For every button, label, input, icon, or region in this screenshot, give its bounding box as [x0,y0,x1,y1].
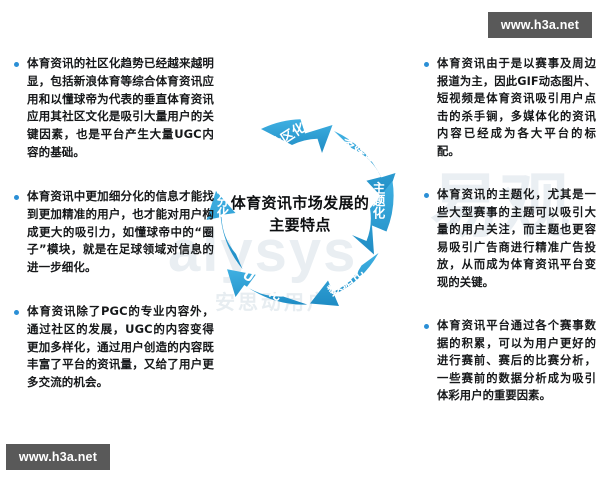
list-item: 体育资讯中更加细分化的信息才能找到更加精准的用户，也才能对用户构成更大的吸引力，… [14,188,214,277]
bullet-dot-icon [424,62,429,67]
bullet-text: 体育资讯由于是以赛事及周边报道为主，因此GIF动态图片、短视频是体育资讯吸引用户… [437,55,596,160]
bullet-dot-icon [14,62,19,67]
list-item: 体育资讯由于是以赛事及周边报道为主，因此GIF动态图片、短视频是体育资讯吸引用户… [424,55,596,160]
bullet-text: 体育资讯的主题化，尤其是一些大型赛事的主题可以吸引大量的用户关注，而主题也更容易… [437,186,596,291]
cycle-diagram: 社区化 多媒体化 主题化 数据化 UGC化 信息细分化 [180,95,420,335]
bullet-dot-icon [14,195,19,200]
watermark-badge-bottom: www.h3a.net [6,444,110,470]
list-item: 体育资讯除了PGC的专业内容外，通过社区的发展，UGC的内容变得更加多样化，通过… [14,303,214,392]
right-bullet-column: 体育资讯由于是以赛事及周边报道为主，因此GIF动态图片、短视频是体育资讯吸引用户… [424,55,596,431]
bullet-dot-icon [424,193,429,198]
bullet-text: 体育资讯中更加细分化的信息才能找到更加精准的用户，也才能对用户构成更大的吸引力，… [27,188,214,277]
bullet-text: 体育资讯除了PGC的专业内容外，通过社区的发展，UGC的内容变得更加多样化，通过… [27,303,214,392]
list-item: 体育资讯的社区化趋势已经越来越明显，包括新浪体育等综合体育资讯应用和以懂球帝为代… [14,55,214,162]
segment-label-multimedia: 多媒体化 [339,133,391,175]
segment-label-thematic: 主题化 [371,180,386,219]
cycle-segment-labels: 社区化 多媒体化 主题化 数据化 UGC化 信息细分化 [215,119,392,304]
slide-canvas: alysys 易观 安思动用户 体育资讯的社区化趋势已经越来越明显，包括新浪体育… [0,0,600,480]
segment-label-data: 数据化 [325,264,366,299]
list-item: 体育资讯平台通过各个赛事数据的积累，可以为用户更好的进行赛前、赛后的比赛分析，一… [424,317,596,405]
bullet-dot-icon [14,310,19,315]
bullet-dot-icon [424,324,429,329]
watermark-badge-top: www.h3a.net [488,12,592,38]
segment-label-segmentation: 信息细分化 [215,156,230,220]
list-item: 体育资讯的主题化，尤其是一些大型赛事的主题可以吸引大量的用户关注，而主题也更容易… [424,186,596,291]
bullet-text: 体育资讯的社区化趋势已经越来越明显，包括新浪体育等综合体育资讯应用和以懂球帝为代… [27,55,214,162]
left-bullet-column: 体育资讯的社区化趋势已经越来越明显，包括新浪体育等综合体育资讯应用和以懂球帝为代… [14,55,214,418]
bullet-text: 体育资讯平台通过各个赛事数据的积累，可以为用户更好的进行赛前、赛后的比赛分析，一… [437,317,596,405]
